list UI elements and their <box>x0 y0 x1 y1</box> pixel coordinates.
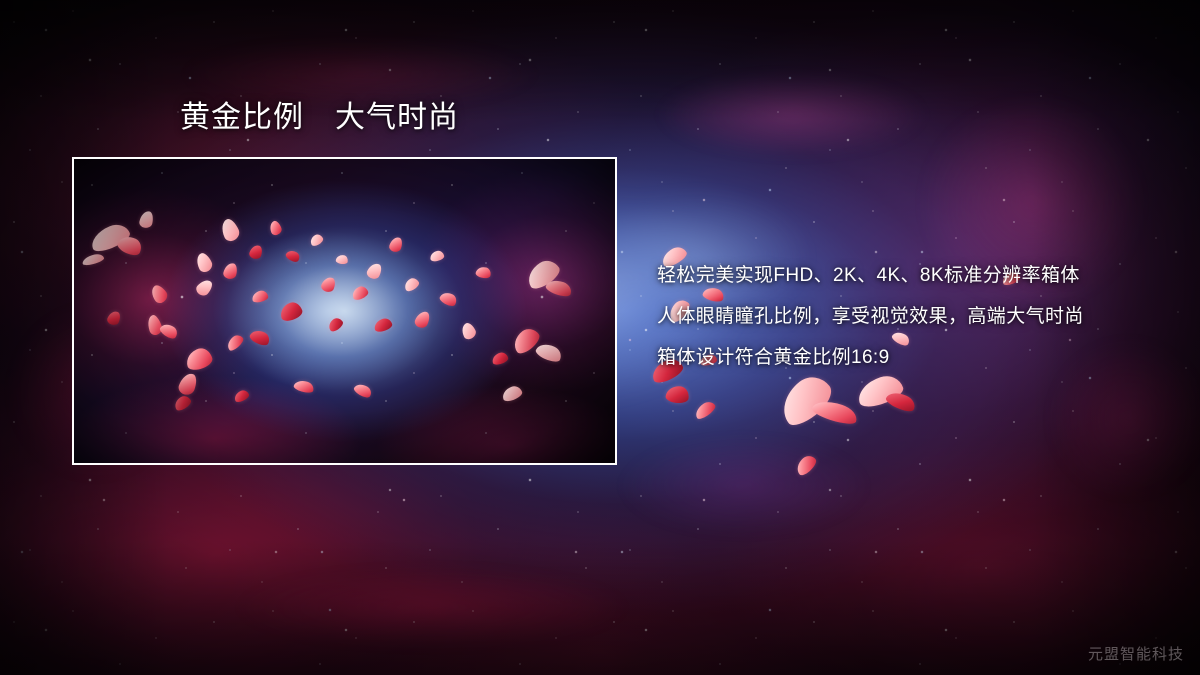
petal <box>665 384 690 404</box>
body-line: 箱体设计符合黄金比例16:9 <box>657 337 1177 378</box>
body-line: 轻松完美实现FHD、2K、4K、8K标准分辨率箱体 <box>657 255 1177 296</box>
petal <box>693 399 718 421</box>
picture-inner <box>74 159 615 463</box>
picture-vignette <box>74 159 615 463</box>
petal <box>773 369 839 431</box>
body-text-block: 轻松完美实现FHD、2K、4K、8K标准分辨率箱体 人体眼睛瞳孔比例，享受视觉效… <box>657 255 1177 378</box>
picture-frame[interactable] <box>72 157 617 465</box>
page-title: 黄金比例 大气时尚 <box>180 100 459 136</box>
petal <box>793 452 819 477</box>
petal <box>810 396 859 427</box>
body-line: 人体眼睛瞳孔比例，享受视觉效果，高端大气时尚 <box>657 296 1177 337</box>
watermark: 元盟智能科技 <box>1088 645 1184 665</box>
petal <box>884 389 918 415</box>
slide-canvas: 黄金比例 大气时尚 轻松完美实现FHD、2K、4K、8K标准分辨率箱体 人体眼睛… <box>0 0 1200 675</box>
